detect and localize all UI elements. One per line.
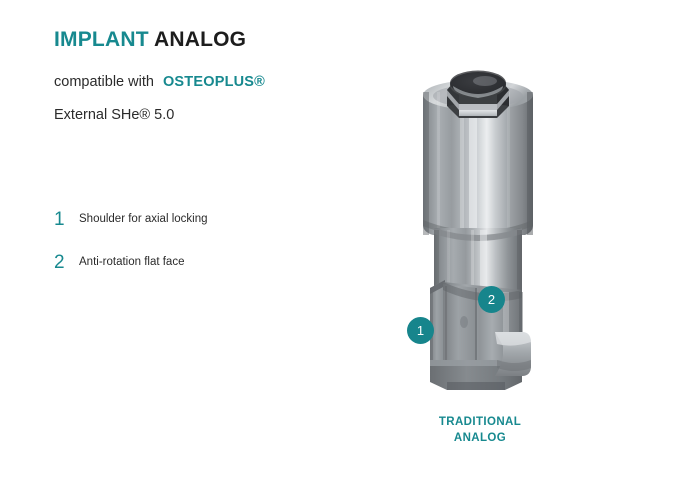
implant-analog-image <box>385 60 565 405</box>
implant-hex-socket <box>447 71 509 119</box>
feature-item: 2 Anti-rotation flat face <box>54 253 374 272</box>
page-title-part2: ANALOG <box>154 28 246 51</box>
compatibility-line: compatible withOSTEOPLUS® <box>54 74 384 90</box>
feature-number: 2 <box>54 253 79 272</box>
implant-shoulder-step <box>430 280 445 360</box>
callout-badge-1[interactable]: 1 <box>407 317 434 344</box>
feature-item: 1 Shoulder for axial locking <box>54 210 374 229</box>
callout-badge-2[interactable]: 2 <box>478 286 505 313</box>
feature-number: 1 <box>54 210 79 229</box>
feature-list: 1 Shoulder for axial locking 2 Anti-rota… <box>54 210 374 296</box>
feature-label: Shoulder for axial locking <box>79 213 208 227</box>
caption-line-1: TRADITIONAL <box>400 415 560 431</box>
text-column: IMPLANT ANALOG compatible withOSTEOPLUS®… <box>54 28 384 123</box>
page-title-part1: IMPLANT <box>54 28 149 51</box>
implant-mid-shaft <box>434 228 522 290</box>
brand-name: OSTEOPLUS® <box>163 74 265 90</box>
feature-label: Anti-rotation flat face <box>79 256 184 270</box>
compatibility-prefix: compatible with <box>54 74 154 90</box>
product-caption: TRADITIONAL ANALOG <box>400 415 560 446</box>
spec-line: External SHe® 5.0 <box>54 107 384 123</box>
page-title: IMPLANT ANALOG <box>54 28 384 52</box>
caption-line-2: ANALOG <box>400 431 560 447</box>
